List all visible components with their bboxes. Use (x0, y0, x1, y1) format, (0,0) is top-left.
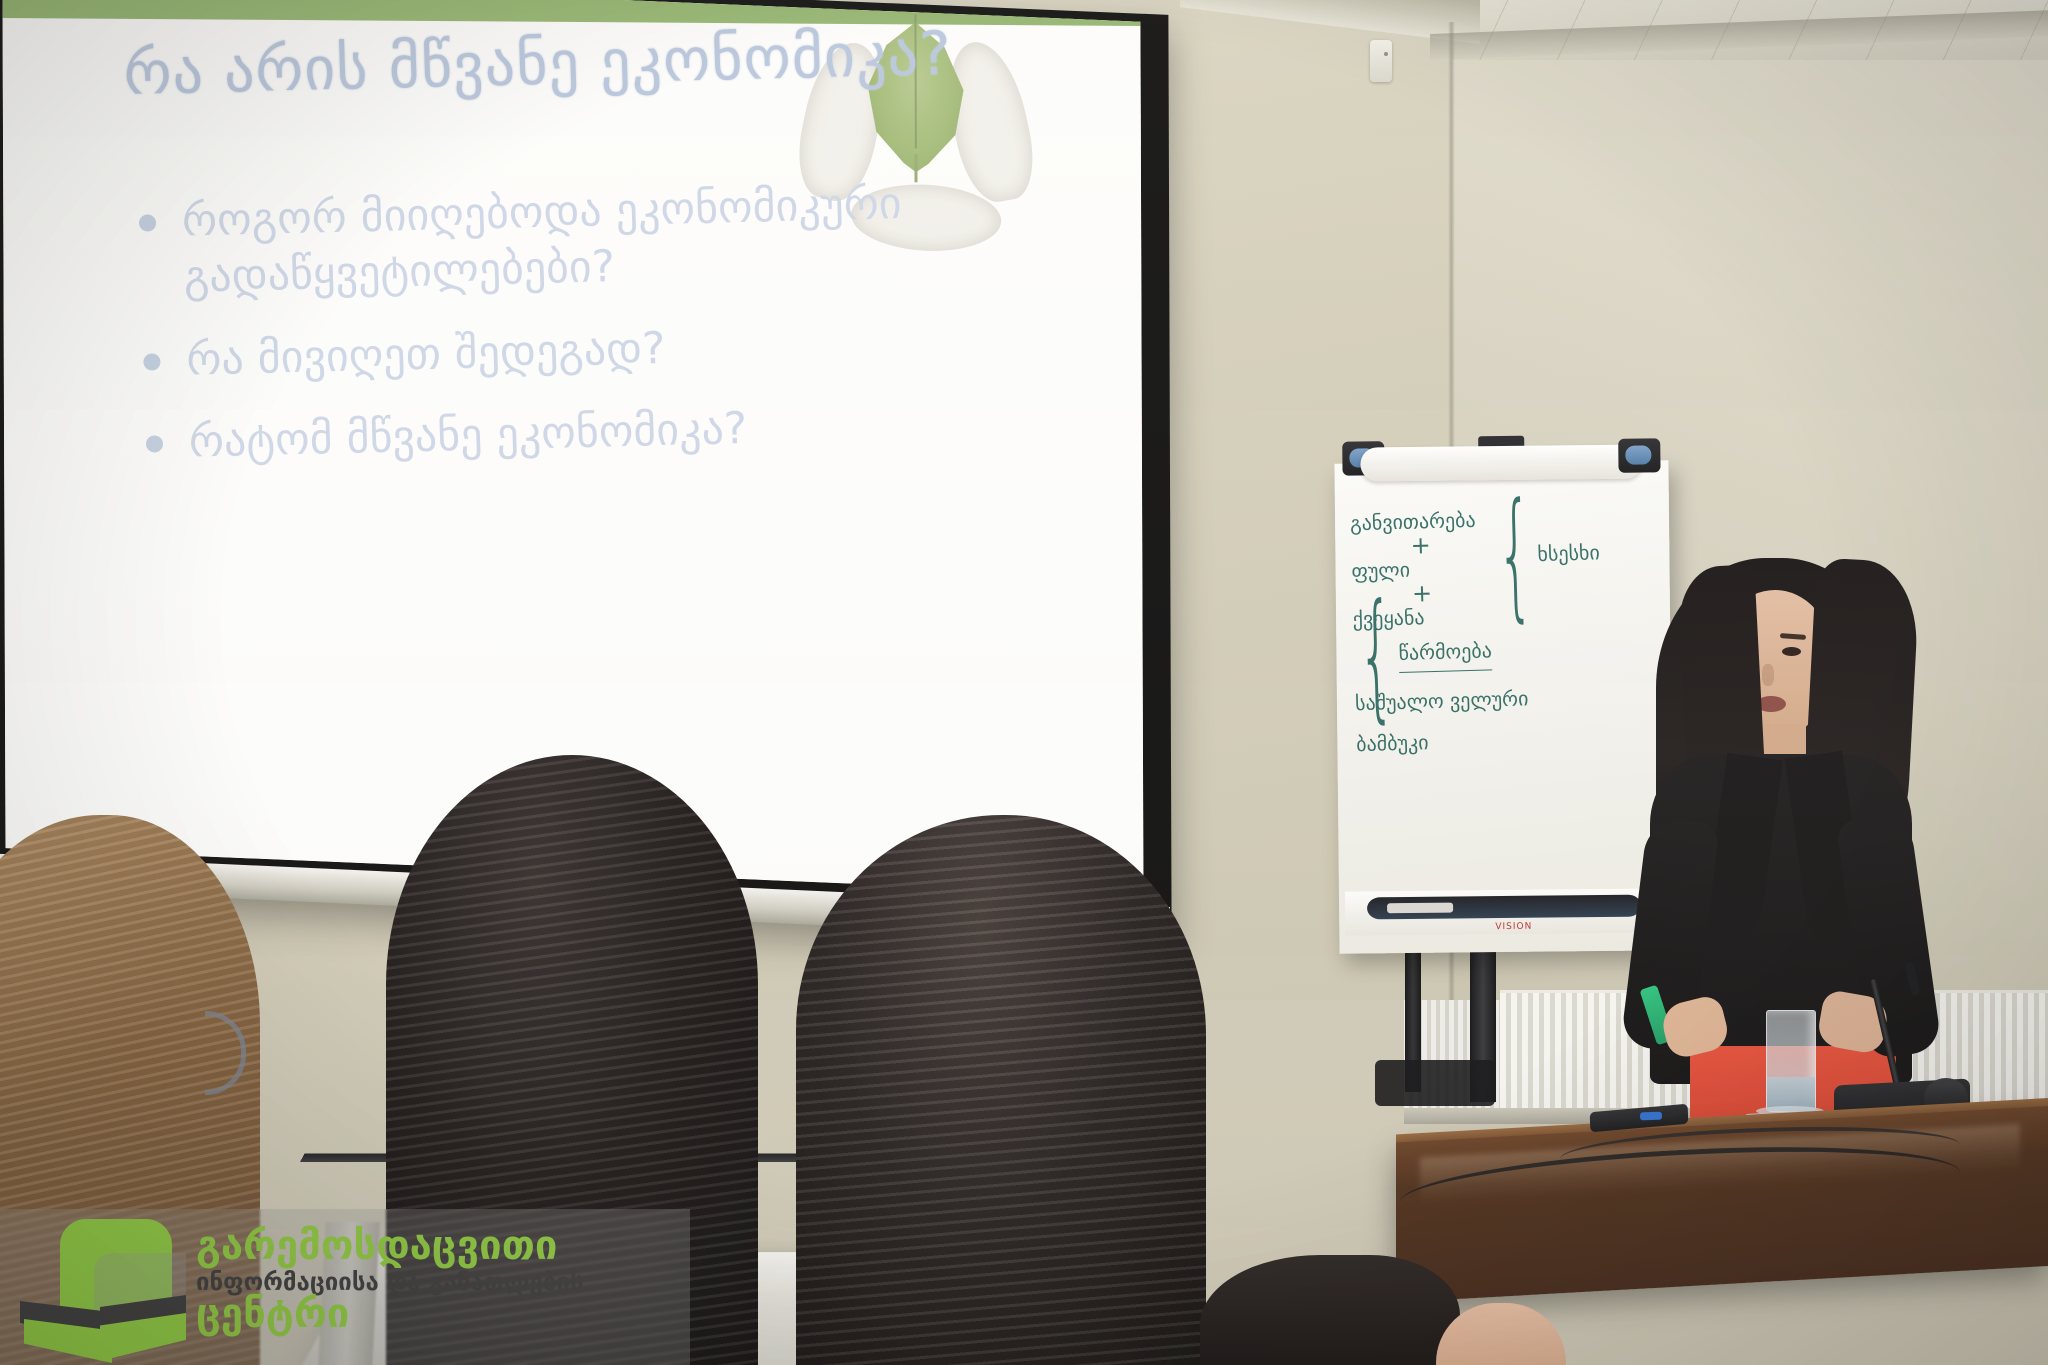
flipchart-marker-tray: VISION (1345, 888, 1667, 935)
flipchart-brace: { (1495, 513, 1534, 598)
flipchart-line: ხსესხი (1537, 537, 1600, 570)
slide-bullet-text: რა მივიღეთ შედეგად? (186, 321, 667, 389)
bullet-dot-icon (139, 214, 157, 231)
projector-remote-button (1640, 1112, 1662, 1121)
flipchart-plus-sign: + (1412, 584, 1478, 603)
presenter-eye-right (1782, 647, 1801, 656)
flipchart-brand-label: VISION (1495, 922, 1532, 932)
water-glass (1766, 1010, 1816, 1112)
watermark-bar: გარემოსდაცვითი ინფორმაციისა და განათლები… (0, 1209, 690, 1365)
bullet-dot-icon (146, 435, 164, 452)
flipchart-foot (1375, 1060, 1495, 1106)
audience-3-hair-strands (796, 815, 1206, 1365)
slide-bullet: რატომ მწვანე ეკონომიკა? (145, 394, 1046, 472)
slide-bullet-text: როგორ მიიღებოდა ეკონომიკურიგადაწყვეტილებ… (181, 176, 904, 306)
flipchart-line: ბამბუკი (1356, 720, 1663, 760)
flipchart-line: საშუალო ველური (1355, 679, 1662, 719)
slide-bullet: როგორ მიიღებოდა ეკონომიკურიგადაწყვეტილებ… (138, 173, 1041, 308)
audience-member-3 (796, 815, 1206, 1365)
organization-name: გარემოსდაცვითი ინფორმაციისა და განათლები… (196, 1225, 676, 1335)
slide-bullet: რა მივიღეთ შედეგად? (143, 311, 1044, 389)
photo-scene: რა არის მწვანე ეკონომიკა? როგორ მიიღებოდ… (0, 0, 2048, 1365)
bullet-dot-icon (143, 353, 161, 370)
organization-name-line3: ცენტრი (196, 1293, 676, 1335)
flipchart-handwriting: განვითარება + ფული + ქვეყანა { ხსესხი { … (1350, 500, 1666, 886)
presenter-nose (1762, 664, 1774, 686)
flipchart-clamp-right-icon (1618, 438, 1660, 472)
flipchart-line: წარმოება (1398, 635, 1492, 673)
flipchart-plus-sign: + (1410, 536, 1476, 555)
flipchart: განვითარება + ფული + ქვეყანა { ხსესხი { … (1334, 460, 1673, 953)
organization-name-line1: გარემოსდაცვითი (196, 1225, 676, 1267)
organization-logo-icon (38, 1215, 188, 1363)
wall-sensor-icon (1370, 40, 1392, 82)
audience-member-4-shoulder (1200, 1255, 1460, 1365)
slide-bullet-list: როგორ მიიღებოდა ეკონომიკურიგადაწყვეტილებ… (138, 173, 1047, 498)
slide-bullet-text: რატომ მწვანე ეკონომიკა? (188, 401, 748, 471)
flipchart-eraser (1387, 903, 1453, 914)
flipchart-brace: { (1357, 613, 1396, 698)
